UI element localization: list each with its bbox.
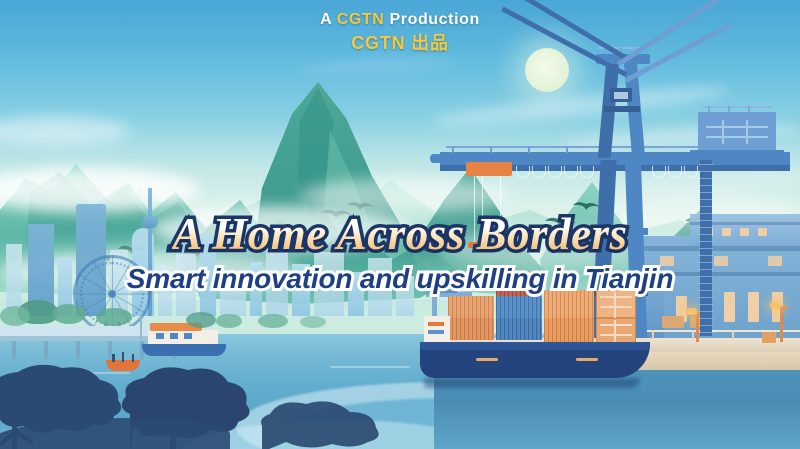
page-title-fill: A Home Across Borders bbox=[172, 209, 627, 259]
bank-bush bbox=[96, 308, 132, 326]
credit-line-english: A CGTN Production bbox=[0, 10, 800, 30]
credit-line-chinese: CGTN 出品 bbox=[0, 31, 800, 55]
dock-crate bbox=[662, 316, 684, 328]
credit-prefix: A bbox=[320, 11, 337, 28]
poster-canvas: A CGTN Production CGTN 出品 A Home Across … bbox=[0, 0, 800, 449]
bank-bush bbox=[0, 306, 30, 326]
production-credit: A CGTN Production CGTN 出品 bbox=[0, 10, 800, 55]
container bbox=[448, 296, 494, 318]
water-ripple bbox=[330, 366, 410, 368]
bank-bush bbox=[300, 316, 326, 328]
container bbox=[448, 318, 494, 340]
bank-bush bbox=[186, 312, 216, 328]
foreground-tree-silhouette-small bbox=[258, 392, 448, 449]
bank-bush bbox=[216, 314, 242, 328]
page-subtitle: Smart innovation and upskilling in Tianj… bbox=[0, 262, 800, 296]
bank-bush bbox=[258, 314, 288, 328]
bank-bush bbox=[52, 304, 86, 324]
page-subtitle-fill: Smart innovation and upskilling in Tianj… bbox=[127, 263, 673, 294]
container bbox=[496, 296, 542, 318]
page-title: A Home Across Borders A Home Across Bord… bbox=[0, 208, 800, 260]
mist-band bbox=[300, 178, 510, 212]
ship-bridge bbox=[424, 316, 450, 342]
container bbox=[496, 318, 542, 340]
dock-crate bbox=[762, 332, 776, 343]
credit-suffix: Production bbox=[384, 11, 479, 28]
cgtn-brand: CGTN bbox=[337, 11, 385, 28]
